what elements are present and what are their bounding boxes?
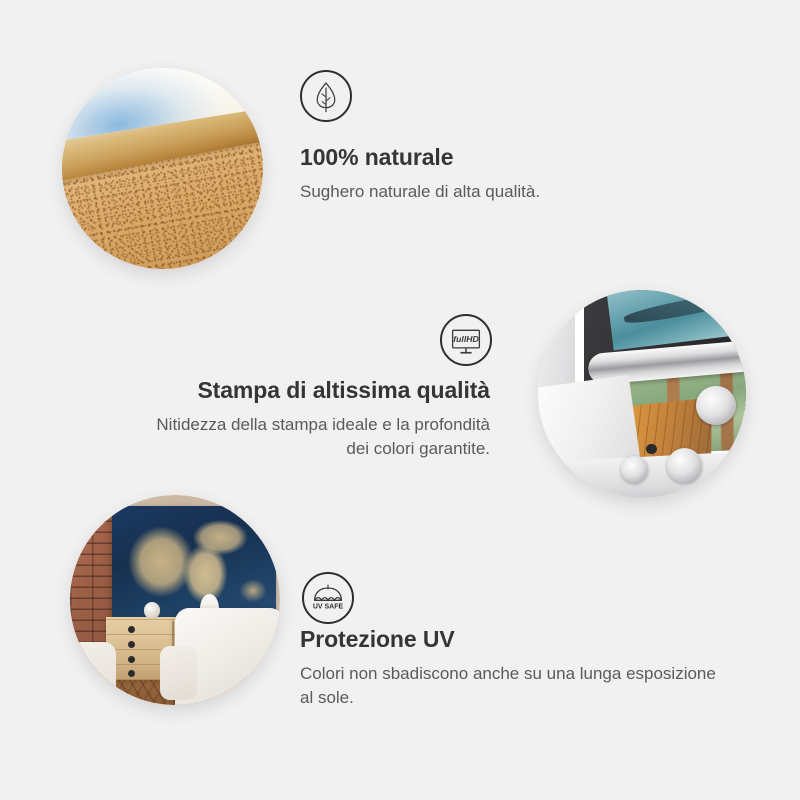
drawer-knob [128, 641, 135, 648]
photo-mask [62, 68, 263, 269]
uv-safe-umbrella-icon: UV SAFE [302, 572, 354, 624]
drawer-knob [128, 670, 135, 677]
feature-text-natural: 100% naturale Sughero naturale di alta q… [300, 144, 720, 204]
photo-mask [538, 290, 746, 498]
white-armchair-secondary [70, 642, 116, 705]
drawer-knob [128, 626, 135, 633]
infographic-canvas: 100% naturale Sughero naturale di alta q… [0, 0, 800, 800]
feature-description: Nitidezza della stampa ideale e la profo… [130, 413, 490, 461]
feature-description: Sughero naturale di alta qualità. [300, 180, 720, 204]
fullhd-icon-label: fullHD [453, 334, 478, 344]
white-armchair [175, 608, 280, 705]
uv-safe-icon-label: UV SAFE [313, 604, 344, 611]
drawer-knob [128, 656, 135, 663]
printer-knob [646, 444, 656, 454]
large-format-printer-photo [538, 290, 746, 498]
feature-title: Protezione UV [300, 626, 720, 653]
cork-board-closeup-photo [62, 68, 263, 269]
leaf-icon [300, 70, 352, 122]
roller-wheel [696, 386, 736, 426]
feature-title: Stampa di altissima qualità [130, 377, 490, 404]
interior-world-map-wall-art-photo [70, 495, 280, 705]
feature-text-uv-protection: Protezione UV Colori non sbadiscono anch… [300, 626, 720, 710]
feature-description: Colori non sbadiscono anche su una lunga… [300, 662, 720, 710]
feature-text-print-quality: Stampa di altissima qualità Nitidezza de… [130, 377, 490, 461]
fullhd-monitor-icon: fullHD [440, 314, 492, 366]
photo-mask [70, 495, 280, 705]
feature-title: 100% naturale [300, 144, 720, 171]
decor-globe [144, 602, 161, 619]
